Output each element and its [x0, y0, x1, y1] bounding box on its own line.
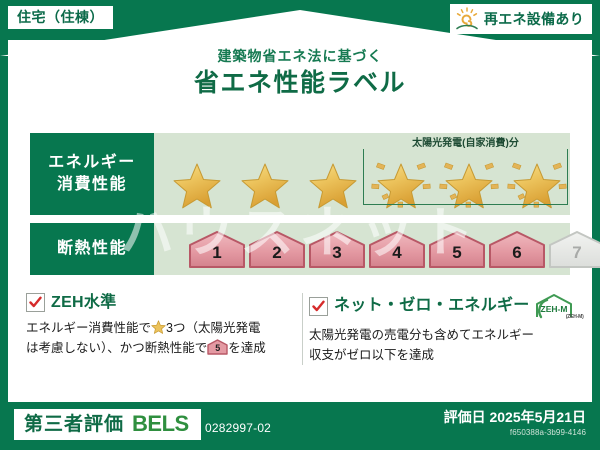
energy-performance-label: 住宅（住棟） 再エネ設備あり 建築物省エネ法に基づく 省エネ性能ラベル ハウス [0, 0, 600, 450]
bels-plate: 第三者評価 BELS [14, 409, 201, 440]
star-icon [512, 162, 562, 210]
label-card: 建築物省エネ法に基づく 省エネ性能ラベル ハウスネット エネルギー 消費性能 太… [8, 40, 592, 402]
star-cell-shining [368, 150, 434, 212]
criterion-nze-title: ネット・ゼロ・エネルギー [334, 298, 530, 314]
criterion-zeh-header: ZEH水準 [26, 293, 295, 312]
house-level: 1 [188, 229, 246, 269]
row-insulation-body: 1 2 3 [154, 223, 570, 275]
house-level: 5 [428, 229, 486, 269]
row-insulation-label: 断熱性能 [30, 223, 154, 275]
badge-renewable-label: 再エネ設備あり [484, 12, 584, 26]
criterion-zeh-title: ZEH水準 [51, 295, 117, 311]
check-icon [29, 296, 42, 309]
zeh-m-badge: ZEH-M (ZEH-M) [534, 293, 580, 319]
row-insulation-label-text: 断熱性能 [57, 238, 127, 260]
house-level: 6 [488, 229, 546, 269]
house-level-number: 2 [248, 229, 306, 269]
criterion-zeh-desc-part2: は考慮しない）、かつ断熱性能で [26, 341, 207, 355]
badge-renewable-equipment: 再エネ設備あり [450, 4, 592, 34]
solar-bracket-label: 太陽光発電(自家消費)分 [363, 134, 568, 149]
criterion-nze-desc-line1: 太陽光発電の売電分も含めてエネルギー [309, 328, 534, 342]
row-energy-body: 太陽光発電(自家消費)分 [154, 133, 570, 215]
row-energy-label-line1: エネルギー [48, 152, 136, 174]
house-level-number: 3 [308, 229, 366, 269]
star-cell [164, 150, 230, 212]
criterion-nze-description: 太陽光発電の売電分も含めてエネルギー収支がゼロ以下を達成 [309, 325, 578, 365]
house-level-number: 4 [368, 229, 426, 269]
star-icon [376, 162, 426, 210]
footer-bar: 第三者評価 BELS 0282997-02 評価日 2025年5月21日 f65… [0, 402, 600, 450]
star-icon [172, 162, 222, 210]
net-zero-energy-checkbox[interactable] [309, 297, 328, 316]
criterion-net-zero-energy: ネット・ゼロ・エネルギー ZEH-M (ZEH-M) 太陽光発電の売電分も含めて… [309, 293, 578, 365]
house-level: 4 [368, 229, 426, 269]
bels-jp-label: 第三者評価 [24, 415, 124, 434]
house-level: 2 [248, 229, 306, 269]
house-level-inactive: 7 [548, 229, 600, 269]
house-icon: 5 [207, 339, 228, 355]
bels-number: 0282997-02 [205, 422, 271, 434]
bels-en-label: BELS [132, 413, 189, 435]
row-energy-label: エネルギー 消費性能 [30, 133, 154, 215]
badge-dwelling-type: 住宅（住棟） [8, 6, 113, 29]
house-level-number: 5 [428, 229, 486, 269]
criterion-zeh-desc-part1: エネルギー消費性能で [26, 321, 151, 335]
house-level-number: 6 [488, 229, 546, 269]
house-level-number: 7 [548, 229, 600, 269]
zeh-m-caption: (ZEH-M) [566, 314, 584, 320]
row-energy-performance: エネルギー 消費性能 太陽光発電(自家消費)分 [30, 133, 570, 215]
criterion-zeh-desc-part3: を達成 [228, 341, 266, 355]
title-block: 建築物省エネ法に基づく 省エネ性能ラベル [8, 48, 592, 99]
houses-area: 1 2 3 [154, 223, 570, 275]
star-icon [240, 162, 290, 210]
criterion-nze-desc-line2: 収支がゼロ以下を達成 [309, 348, 434, 362]
star-icon [308, 162, 358, 210]
criteria-section: ZEH水準 エネルギー消費性能で3つ（太陽光発電は考慮しない）、かつ断熱性能で5… [26, 293, 578, 365]
criterion-zeh-desc-star-count: 3つ（太陽光発電 [166, 321, 260, 335]
house-level-number: 1 [188, 229, 246, 269]
criterion-zeh-description: エネルギー消費性能で3つ（太陽光発電は考慮しない）、かつ断熱性能で5を達成 [26, 318, 295, 358]
evaluation-id: f650388a-3b99-4146 [510, 429, 586, 437]
star-cell [300, 150, 366, 212]
star-cell-shining [436, 150, 502, 212]
row-energy-label-line2: 消費性能 [57, 174, 127, 196]
svg-text:ZEH-M: ZEH-M [540, 304, 567, 314]
zeh-standard-checkbox[interactable] [26, 293, 45, 312]
star-icon [151, 320, 166, 334]
title-subtitle: 建築物省エネ法に基づく [8, 48, 592, 65]
star-icon [444, 162, 494, 210]
row-insulation-performance: 断熱性能 1 [30, 223, 570, 275]
check-icon [312, 300, 325, 313]
house-level: 3 [308, 229, 366, 269]
star-cell [232, 150, 298, 212]
criteria-divider [302, 293, 303, 365]
page-title: 省エネ性能ラベル [8, 67, 592, 100]
criterion-zeh-desc-house-num: 5 [207, 339, 228, 355]
criterion-nze-header: ネット・ゼロ・エネルギー ZEH-M (ZEH-M) [309, 293, 578, 319]
evaluation-date: 評価日 2025年5月21日 [444, 410, 586, 424]
star-cell-shining [504, 150, 570, 212]
criterion-zeh-standard: ZEH水準 エネルギー消費性能で3つ（太陽光発電は考慮しない）、かつ断熱性能で5… [26, 293, 295, 365]
sun-renewable-icon [454, 7, 480, 31]
